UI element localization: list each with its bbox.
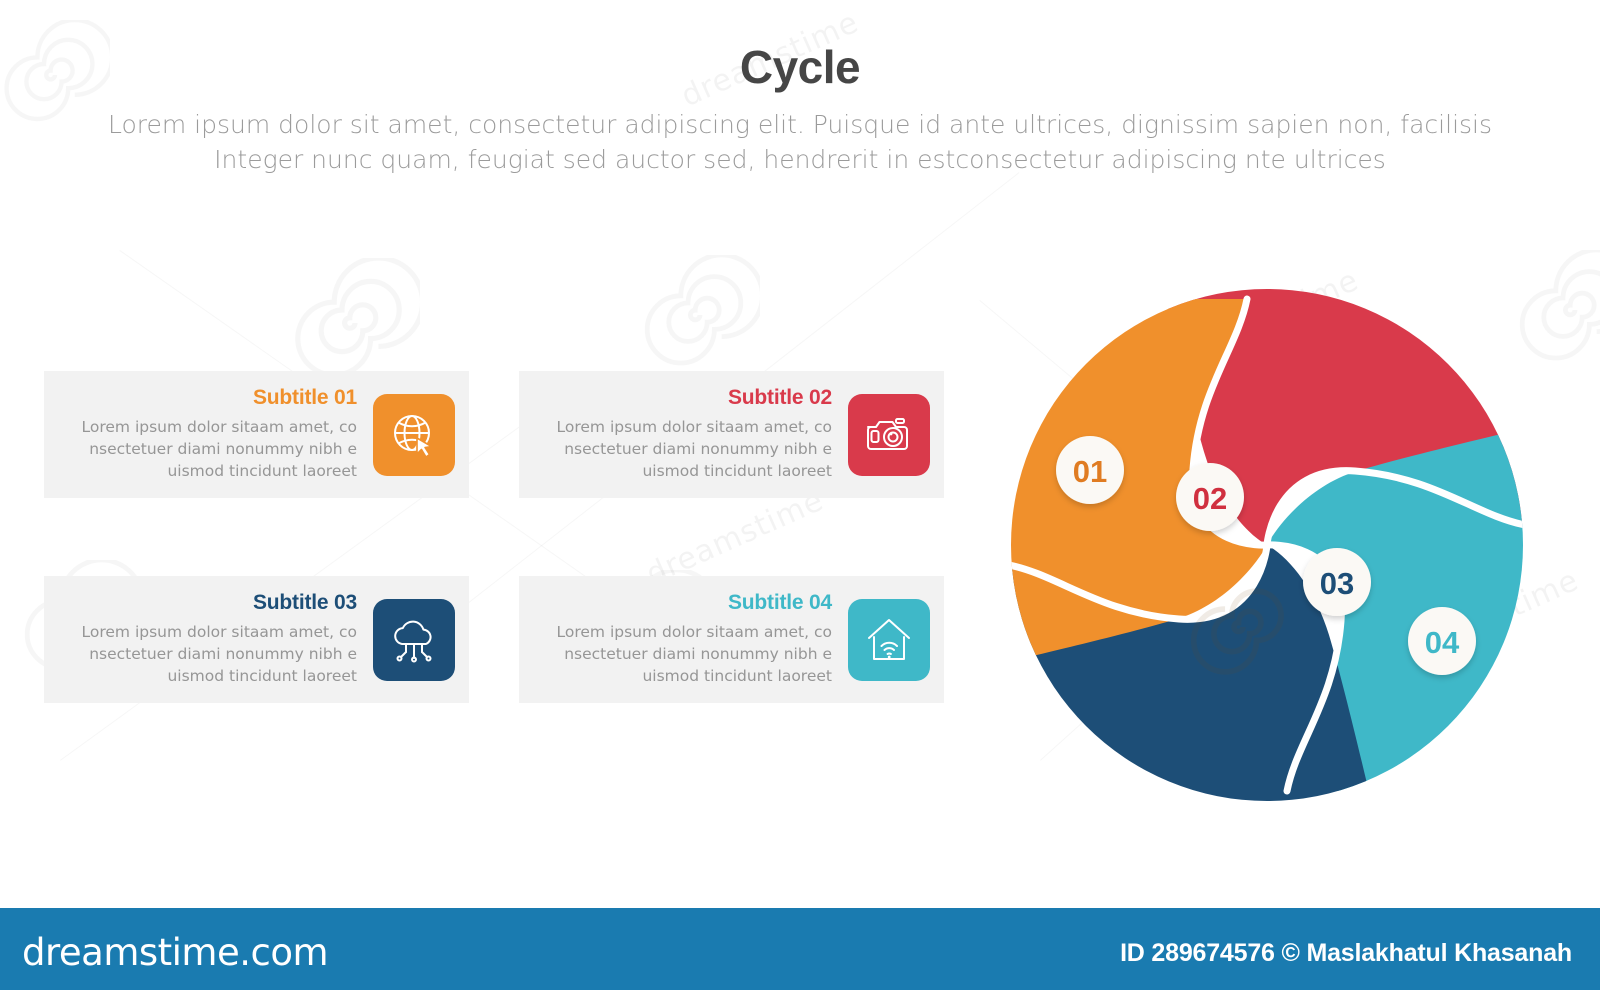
smart-home-wifi-icon [848, 599, 930, 681]
globe-cursor-icon [373, 394, 455, 476]
spiral-watermark-icon [290, 258, 420, 388]
card-04-text: Subtitle 04 Lorem ipsum dolor sitaam ame… [519, 592, 848, 687]
cycle-badge-03-label: 03 [1320, 566, 1354, 601]
card-01-text: Subtitle 01 Lorem ipsum dolor sitaam ame… [44, 387, 373, 482]
page-subtitle: Lorem ipsum dolor sit amet, consectetur … [105, 107, 1495, 178]
card-02-text: Subtitle 02 Lorem ipsum dolor sitaam ame… [519, 387, 848, 482]
card-02-description: Lorem ipsum dolor sitaam amet, co nsecte… [519, 416, 832, 482]
footer-bar: dreamstime.com ID 289674576 © Maslakhatu… [0, 908, 1600, 990]
page-subtitle-line-2: Integer nunc quam, feugiat sed auctor se… [105, 142, 1495, 178]
card-03[interactable]: Subtitle 03 Lorem ipsum dolor sitaam ame… [44, 576, 469, 703]
card-01-subtitle: Subtitle 01 [44, 387, 357, 408]
cycle-badge-02-label: 02 [1193, 481, 1227, 516]
cards-row-top: Subtitle 01 Lorem ipsum dolor sitaam ame… [44, 371, 944, 498]
card-03-subtitle: Subtitle 03 [44, 592, 357, 613]
cycle-badge-03[interactable]: 03 [1303, 548, 1371, 616]
card-04-description: Lorem ipsum dolor sitaam amet, co nsecte… [519, 621, 832, 687]
page-subtitle-line-1: Lorem ipsum dolor sit amet, consectetur … [105, 107, 1495, 143]
card-02-subtitle: Subtitle 02 [519, 387, 832, 408]
card-04-subtitle: Subtitle 04 [519, 592, 832, 613]
card-02[interactable]: Subtitle 02 Lorem ipsum dolor sitaam ame… [519, 371, 944, 498]
header: Cycle Lorem ipsum dolor sit amet, consec… [0, 0, 1600, 178]
cycle-badge-04-label: 04 [1425, 625, 1460, 660]
cards-grid: Subtitle 01 Lorem ipsum dolor sitaam ame… [44, 371, 944, 703]
camera-icon [848, 394, 930, 476]
cloud-computing-icon [373, 599, 455, 681]
cycle-diagram: 01 02 03 04 [1005, 275, 1545, 815]
dreamstime-logo: dreamstime.com [22, 931, 328, 974]
card-03-text: Subtitle 03 Lorem ipsum dolor sitaam ame… [44, 592, 373, 687]
cards-row-bottom: Subtitle 03 Lorem ipsum dolor sitaam ame… [44, 576, 944, 703]
cycle-badge-02[interactable]: 02 [1176, 463, 1244, 531]
page-title: Cycle [0, 0, 1600, 93]
cycle-badge-01[interactable]: 01 [1056, 436, 1124, 504]
footer-credit: ID 289674576 © Maslakhatul Khasanah [1120, 939, 1572, 968]
card-01[interactable]: Subtitle 01 Lorem ipsum dolor sitaam ame… [44, 371, 469, 498]
spiral-watermark-icon [640, 255, 760, 375]
cycle-badge-04[interactable]: 04 [1408, 607, 1476, 675]
cycle-badge-01-label: 01 [1073, 454, 1107, 489]
card-04[interactable]: Subtitle 04 Lorem ipsum dolor sitaam ame… [519, 576, 944, 703]
card-01-description: Lorem ipsum dolor sitaam amet, co nsecte… [44, 416, 357, 482]
card-03-description: Lorem ipsum dolor sitaam amet, co nsecte… [44, 621, 357, 687]
